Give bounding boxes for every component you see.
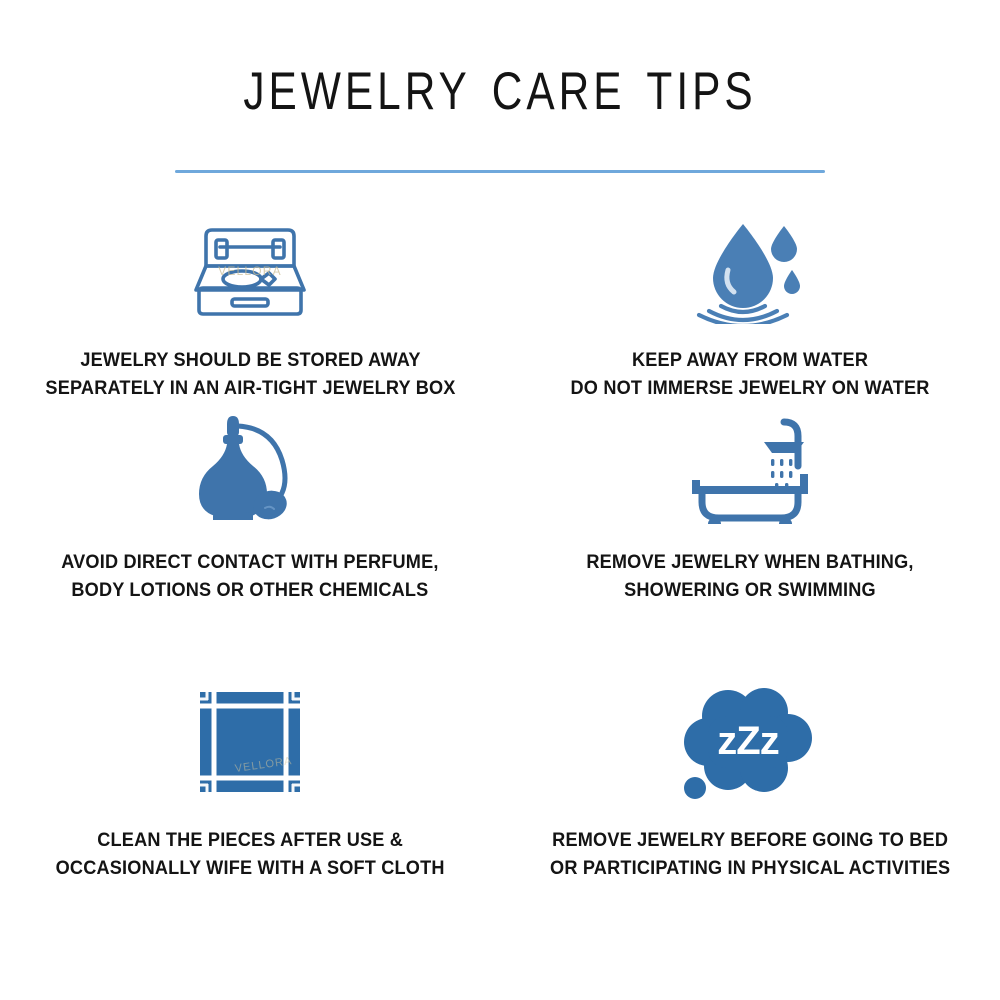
tip-card-jewelry-box: VELLORA JEWELRY SHOULD BE STORED AWAY SE… [0,212,500,406]
jewelry-box-icon: VELLORA [190,212,310,324]
bathtub-shower-icon [688,406,812,526]
watermark-text: VELLORA [218,264,282,278]
tip-caption: KEEP AWAY FROM WATER DO NOT IMMERSE JEWE… [570,346,929,403]
zzz-label: zZz [717,719,778,763]
water-drop-icon [691,212,809,324]
tip-card-perfume: AVOID DIRECT CONTACT WITH PERFUME, BODY … [0,406,500,678]
poster-header: Jewelry Care Tips [0,0,1000,173]
tip-card-bathing: REMOVE JEWELRY WHEN BATHING, SHOWERING O… [500,406,1000,678]
title-divider [175,170,825,173]
jewelry-care-tips-poster: Jewelry Care Tips [0,0,1000,1000]
tip-caption: REMOVE JEWELRY WHEN BATHING, SHOWERING O… [586,548,913,605]
tip-caption: CLEAN THE PIECES AFTER USE & OCCASIONALL… [55,826,444,883]
page-title: Jewelry Care Tips [100,44,900,124]
perfume-bottle-icon [191,406,309,526]
tips-grid: VELLORA JEWELRY SHOULD BE STORED AWAY SE… [0,212,1000,950]
tip-card-sleep: zZz REMOVE JEWELRY BEFORE GOING TO BED O… [500,678,1000,950]
folded-cloth-icon: VELLORA [188,678,312,804]
tip-card-water: KEEP AWAY FROM WATER DO NOT IMMERSE JEWE… [500,212,1000,406]
sleep-cloud-icon: zZz [682,678,818,804]
tip-card-cloth: VELLORA CLEAN THE PIECES AFTER USE & OCC… [0,678,500,950]
tip-caption: JEWELRY SHOULD BE STORED AWAY SEPARATELY… [45,346,455,403]
tip-caption: AVOID DIRECT CONTACT WITH PERFUME, BODY … [61,548,438,605]
tip-caption: REMOVE JEWELRY BEFORE GOING TO BED OR PA… [550,826,950,883]
